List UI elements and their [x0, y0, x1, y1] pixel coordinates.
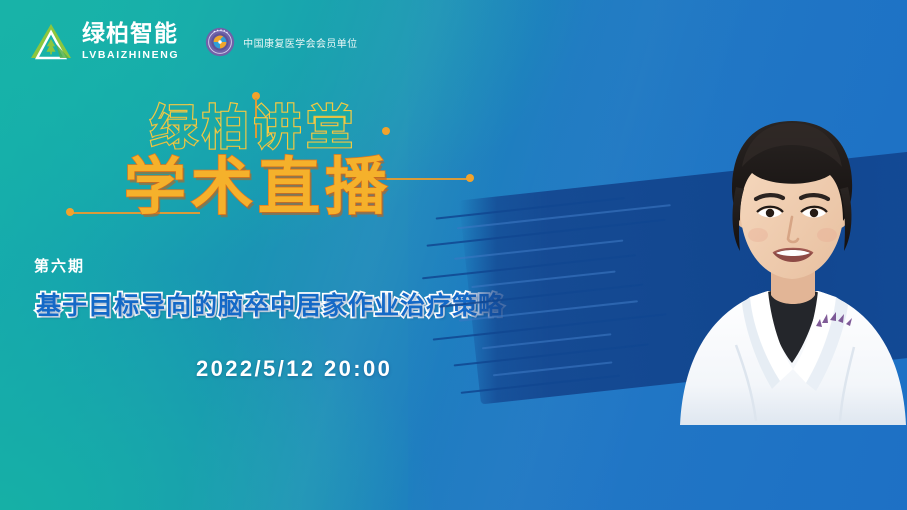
- lecture-title: 基于目标导向的脑卒中居家作业治疗策略: [36, 292, 504, 321]
- speaker-portrait-photo: [640, 95, 907, 425]
- title-line-2: 学术直播: [124, 156, 392, 218]
- event-datetime: 2022/5/12 20:00: [196, 356, 392, 382]
- poster-canvas: 绿柏智能 LVBAIZHINENG: [0, 0, 907, 510]
- brand-logo: 绿柏智能 LVBAIZHINENG: [30, 22, 179, 62]
- title-line-1: 绿柏讲堂: [150, 105, 392, 152]
- deco-dot-right: [466, 174, 474, 182]
- deco-dot-top: [252, 92, 260, 100]
- association-text: 中国康复医学会会员单位: [243, 35, 357, 50]
- main-title: 绿柏讲堂 学术直播: [150, 105, 392, 218]
- association-badge: 中国康复医学会会员单位: [205, 27, 357, 57]
- deco-dot-left: [66, 208, 74, 216]
- brand-name-cn: 绿柏智能: [82, 23, 179, 46]
- association-seal-icon: [205, 27, 235, 57]
- brand-name-en: LVBAIZHINENG: [82, 50, 179, 61]
- mountain-tree-logo-icon: [30, 22, 74, 62]
- episode-label: 第六期: [34, 255, 85, 276]
- header-logos: 绿柏智能 LVBAIZHINENG: [30, 22, 358, 62]
- brand-wordmark: 绿柏智能 LVBAIZHINENG: [82, 23, 179, 61]
